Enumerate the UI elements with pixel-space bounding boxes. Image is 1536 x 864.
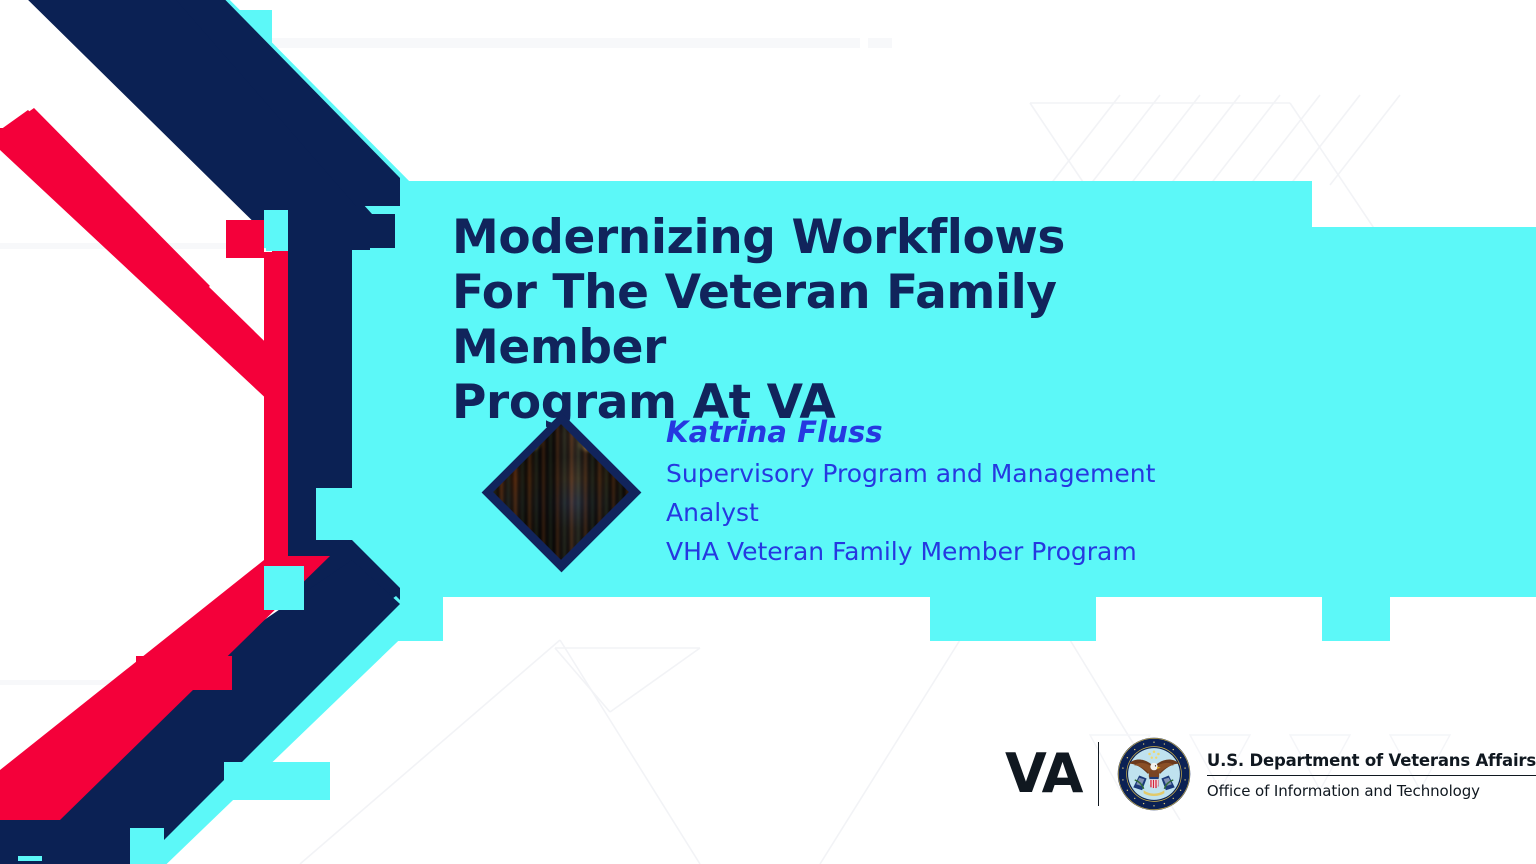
agency-name: U.S. Department of Veterans Affairs xyxy=(1207,751,1536,770)
presenter-organization: VHA Veteran Family Member Program xyxy=(666,533,1155,572)
presenter-block: Katrina Fluss Supervisory Program and Ma… xyxy=(478,407,1155,575)
avatar xyxy=(478,409,644,575)
avatar-photo-image xyxy=(493,424,629,560)
agency-rule xyxy=(1207,775,1536,776)
va-seal-icon xyxy=(1117,737,1191,811)
va-logo-lockup: VA xyxy=(1005,728,1536,820)
va-wordmark: VA xyxy=(1005,747,1098,801)
avatar-photo xyxy=(493,424,629,560)
presenter-name: Katrina Fluss xyxy=(666,415,1155,449)
presenter-text: Katrina Fluss Supervisory Program and Ma… xyxy=(666,407,1155,571)
page-title: Modernizing Workflows For The Veteran Fa… xyxy=(452,210,1272,430)
title-block: Modernizing Workflows For The Veteran Fa… xyxy=(452,210,1272,430)
va-agency-text: U.S. Department of Veterans Affairs Offi… xyxy=(1207,749,1536,800)
logo-divider xyxy=(1098,742,1099,806)
presenter-role: Supervisory Program and Management Analy… xyxy=(666,455,1155,533)
office-name: Office of Information and Technology xyxy=(1207,782,1536,800)
presentation-title-slide: Modernizing Workflows For The Veteran Fa… xyxy=(0,0,1536,864)
